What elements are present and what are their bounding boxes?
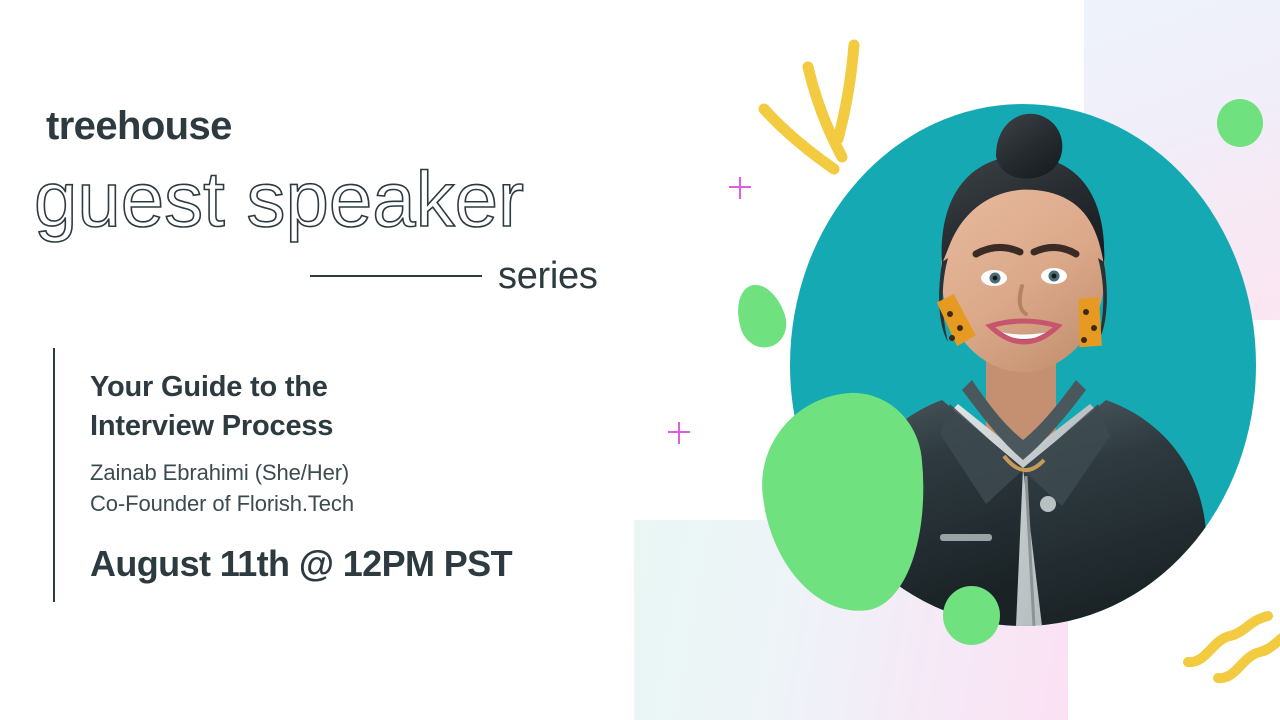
event-title: Your Guide to the Interview Process [90,368,650,445]
green-blob-small-top [729,278,793,353]
series-divider-rule [310,275,482,277]
green-circle-top-right [1217,99,1263,147]
guest-speaker-headline: guest speaker [34,160,524,238]
plus-icon-lower [668,422,690,444]
event-title-line-2: Interview Process [90,410,333,442]
details-accent-rule [53,348,55,602]
series-row: series [310,252,630,300]
speaker-role: Co-Founder of Florish.Tech [90,488,650,519]
event-datetime: August 11th @ 12PM PST [90,546,650,582]
sparkle-strokes-icon [750,35,890,215]
series-label: series [498,257,598,295]
wave-strokes-icon [1182,588,1280,688]
green-circle-bottom [943,586,1000,645]
speaker-name: Zainab Ebrahimi (She/Her) [90,457,650,488]
treehouse-wordmark: treehouse [46,106,232,146]
promo-graphic: treehouse guest speaker series Your Guid… [0,0,1280,720]
event-details: Your Guide to the Interview Process Zain… [90,368,650,582]
event-title-line-1: Your Guide to the [90,371,328,403]
plus-icon-upper [729,177,751,199]
